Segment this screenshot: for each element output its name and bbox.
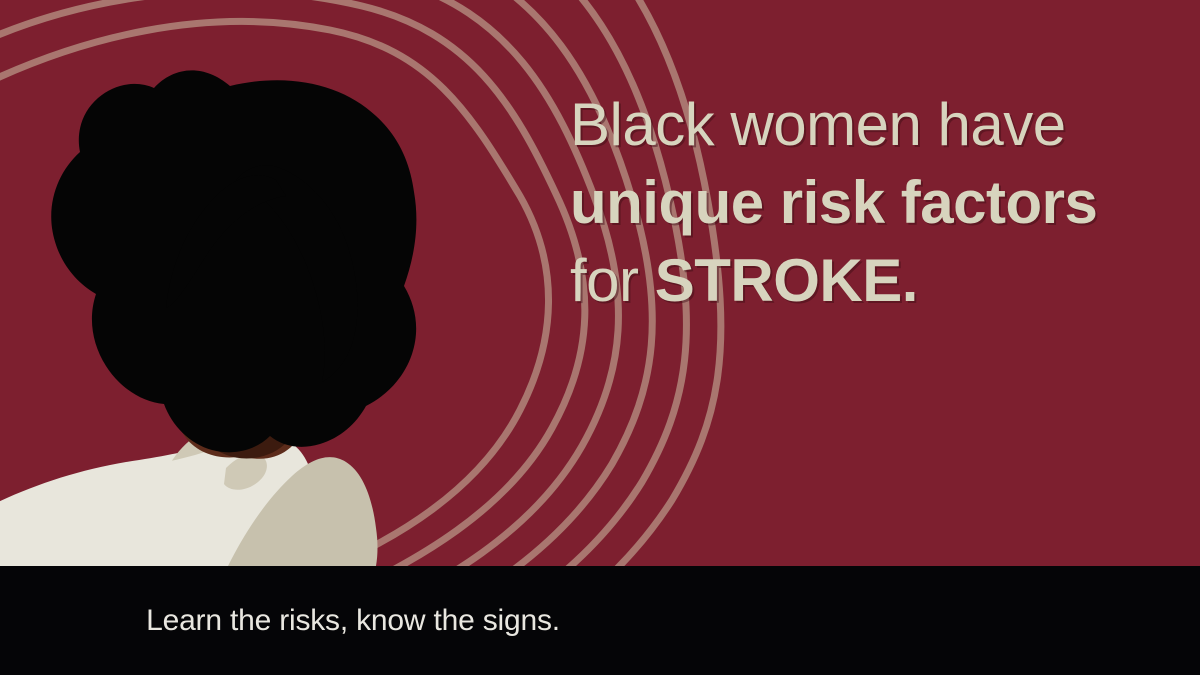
headline-line-2: unique risk factors bbox=[570, 174, 1190, 232]
headline-line-3-emphasis: STROKE. bbox=[655, 247, 918, 314]
headline-block: Black women have unique risk factors for… bbox=[570, 96, 1190, 311]
headline-line-1: Black women have bbox=[570, 96, 1190, 154]
tagline-text: Learn the risks, know the signs. bbox=[0, 566, 706, 675]
headline-line-3: for STROKE. bbox=[570, 252, 1190, 310]
illustration-panel: Black women have unique risk factors for… bbox=[0, 0, 1200, 566]
footer-bar: Learn the risks, know the signs. bbox=[0, 566, 1200, 675]
poster-canvas: Black women have unique risk factors for… bbox=[0, 0, 1200, 675]
headline-line-3-prefix: for bbox=[570, 247, 655, 314]
afro-hair-shape bbox=[51, 70, 416, 452]
